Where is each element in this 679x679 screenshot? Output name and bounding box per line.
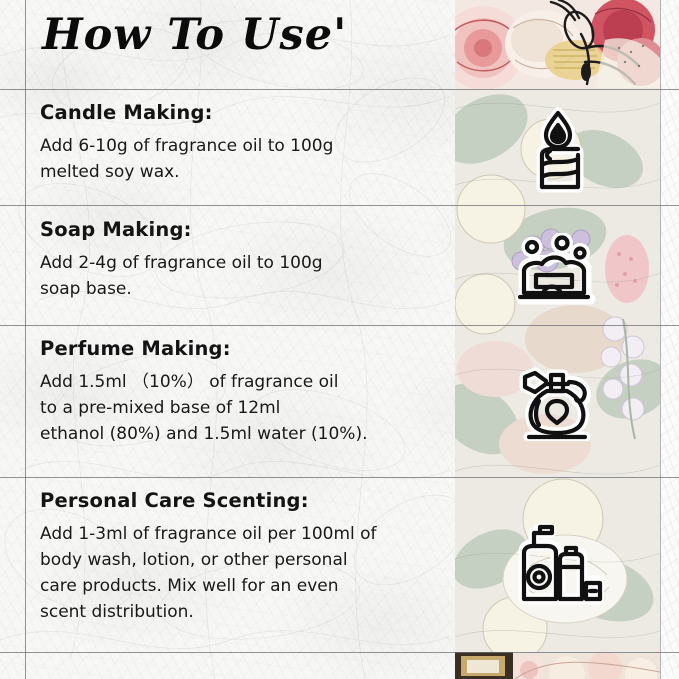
- perfume-bottle-icon: [455, 358, 660, 444]
- right-margin-texture: [660, 0, 679, 679]
- section-heading: Candle Making:: [40, 101, 333, 124]
- how-to-use-infographic: How To Use' Candle Making: Add 6-10g of …: [0, 0, 679, 679]
- section-body: Add 1.5ml （10%） of fragrance oil to a pr…: [40, 369, 367, 447]
- body-line: to a pre-mixed base of 12ml: [40, 395, 367, 421]
- section-heading: Soap Making:: [40, 218, 323, 241]
- candle-icon: [455, 100, 660, 200]
- body-line: ethanol (80%) and 1.5ml water (10%).: [40, 421, 367, 447]
- divider-after-title: [0, 89, 679, 90]
- body-line: scent distribution.: [40, 599, 377, 625]
- section-body: Add 6-10g of fragrance oil to 100g melte…: [40, 133, 333, 185]
- section-personal-care-scenting: Personal Care Scenting: Add 1-3ml of fra…: [40, 489, 377, 625]
- body-line: soap base.: [40, 276, 323, 302]
- body-line: melted soy wax.: [40, 159, 333, 185]
- section-heading: Perfume Making:: [40, 337, 367, 360]
- rose-moth-illustration-top: [455, 0, 660, 89]
- body-line: Add 1.5ml （10%） of fragrance oil: [40, 369, 367, 395]
- section-body: Add 2-4g of fragrance oil to 100g soap b…: [40, 250, 323, 302]
- body-line: Add 1-3ml of fragrance oil per 100ml of: [40, 521, 377, 547]
- divider-bottom: [0, 652, 679, 653]
- divider-after-perfume: [0, 477, 679, 478]
- left-margin-rule: [25, 0, 26, 679]
- section-perfume-making: Perfume Making: Add 1.5ml （10%） of fragr…: [40, 337, 367, 447]
- soap-bar-icon: [455, 228, 660, 314]
- section-body: Add 1-3ml of fragrance oil per 100ml of …: [40, 521, 377, 625]
- divider-after-candle: [0, 205, 679, 206]
- body-line: Add 2-4g of fragrance oil to 100g: [40, 250, 323, 276]
- section-candle-making: Candle Making: Add 6-10g of fragrance oi…: [40, 101, 333, 185]
- right-column-divider: [660, 0, 661, 679]
- rose-illustration-bottom: [455, 652, 660, 679]
- page-title: How To Use': [42, 10, 347, 60]
- illustration-column: [455, 0, 660, 679]
- section-heading: Personal Care Scenting:: [40, 489, 377, 512]
- divider-after-soap: [0, 325, 679, 326]
- body-line: body wash, lotion, or other personal: [40, 547, 377, 573]
- body-line: care products. Mix well for an even: [40, 573, 377, 599]
- body-line: Add 6-10g of fragrance oil to 100g: [40, 133, 333, 159]
- personal-care-products-icon: [455, 518, 660, 610]
- section-soap-making: Soap Making: Add 2-4g of fragrance oil t…: [40, 218, 323, 302]
